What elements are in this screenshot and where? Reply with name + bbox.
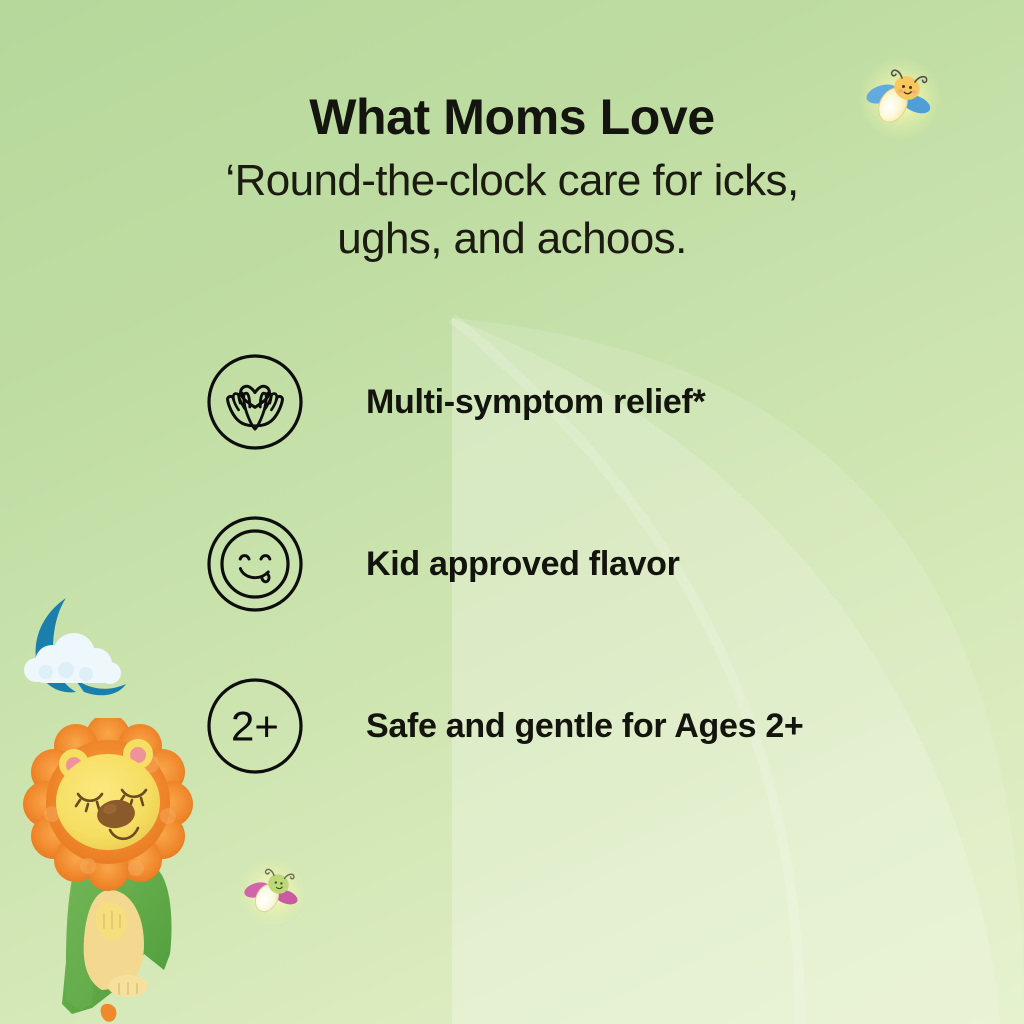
smiley-tongue-icon <box>205 514 305 614</box>
feature-row-kid-approved-flavor: Kid approved flavor <box>205 514 965 614</box>
moon-and-cloud-icon <box>22 592 140 698</box>
hands-holding-heart-icon <box>205 352 305 452</box>
subtitle-line-1: ‘Round-the-clock care for icks, <box>0 152 1024 210</box>
age-badge-text: 2+ <box>231 703 279 750</box>
firefly-bottom-icon <box>228 846 316 934</box>
subtitle-line-2: ughs, and achoos. <box>0 210 1024 268</box>
age-badge-icon: 2+ <box>205 676 305 776</box>
feature-list: Multi-symptom relief* Kid approved flavo… <box>205 352 965 776</box>
benefits-poster: What Moms Love ‘Round-the-clock care for… <box>0 0 1024 1024</box>
feature-label: Kid approved flavor <box>366 545 680 584</box>
page-subtitle: ‘Round-the-clock care for icks, ughs, an… <box>0 152 1024 268</box>
page-title: What Moms Love <box>0 88 1024 146</box>
sleeping-lion-illustration <box>18 718 200 1024</box>
header-block: What Moms Love ‘Round-the-clock care for… <box>0 88 1024 268</box>
feature-label: Safe and gentle for Ages 2+ <box>366 707 804 746</box>
feature-row-ages-2-plus: 2+ Safe and gentle for Ages 2+ <box>205 676 965 776</box>
feature-row-multi-symptom-relief: Multi-symptom relief* <box>205 352 965 452</box>
feature-label: Multi-symptom relief* <box>366 383 705 422</box>
